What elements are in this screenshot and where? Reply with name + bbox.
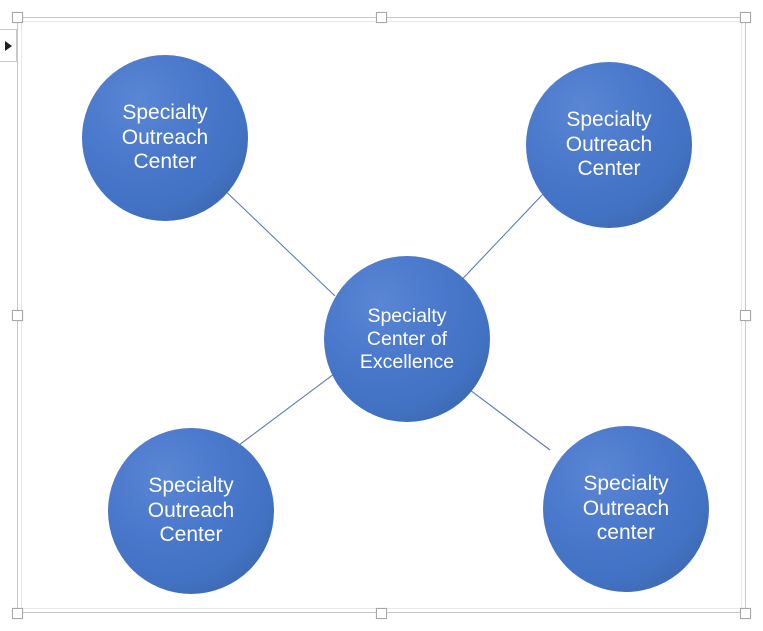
handle-bottom-right[interactable]: [740, 608, 751, 619]
handle-middle-left[interactable]: [12, 310, 23, 321]
handle-top-center[interactable]: [376, 12, 387, 23]
handle-middle-right[interactable]: [740, 310, 751, 321]
handle-bottom-left[interactable]: [12, 608, 23, 619]
handle-top-left[interactable]: [12, 12, 23, 23]
handle-top-right[interactable]: [740, 12, 751, 23]
handle-bottom-center[interactable]: [376, 608, 387, 619]
text-pane-expand-button[interactable]: [0, 29, 17, 62]
triangle-right-icon: [5, 41, 12, 51]
selection-frame: [17, 17, 746, 613]
screenshot-root: Specialty Center of Excellence Specialty…: [0, 0, 763, 631]
